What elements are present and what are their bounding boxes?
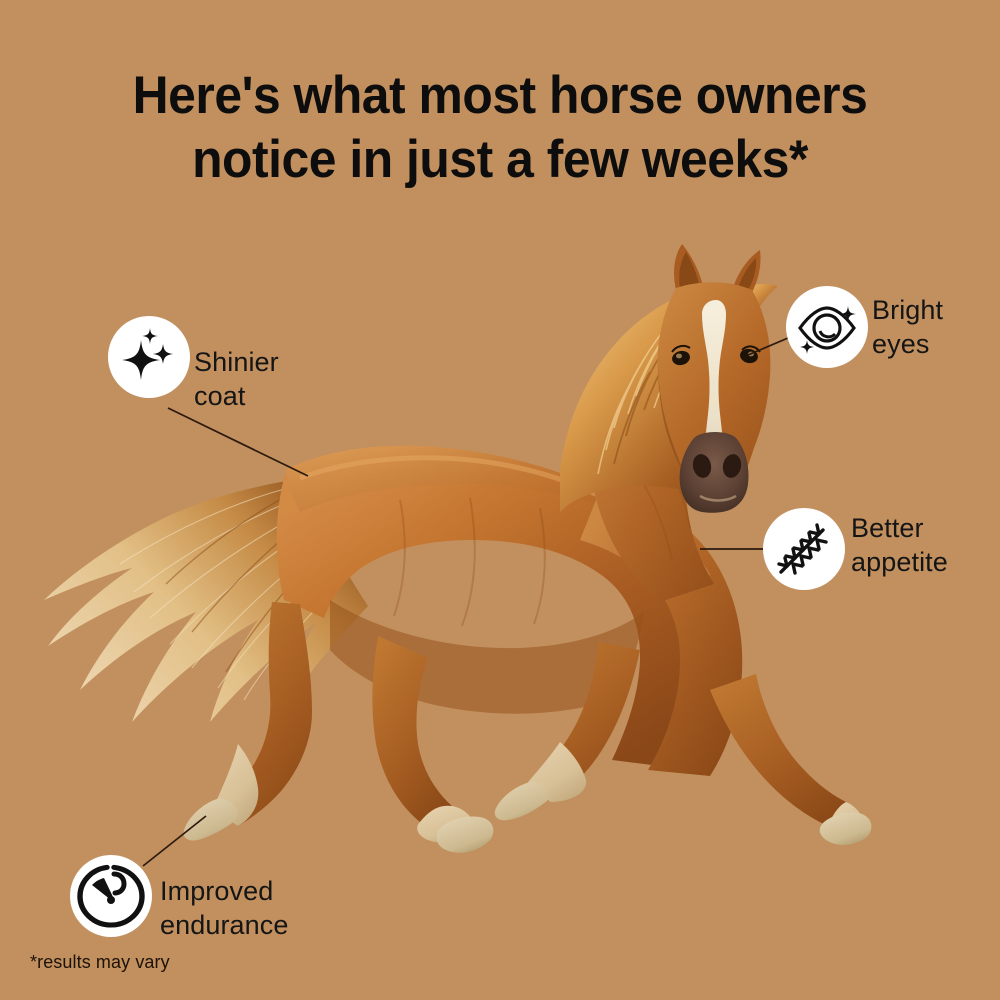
callout-label-shinier-coat: Shinier coat [194,345,279,413]
sparkle-icon [108,316,190,398]
stopwatch-icon [70,855,152,937]
footnote-disclaimer: *results may vary [30,952,170,973]
page-title: Here's what most horse owners notice in … [30,64,970,192]
callout-label-better-appetite: Better appetite [851,511,948,579]
eye-icon [786,286,868,368]
horse-legs [184,602,872,853]
promo-graphic: Here's what most horse owners notice in … [0,0,1000,1000]
callout-label-bright-eyes: Bright eyes [872,293,943,361]
wheat-icon [763,508,845,590]
callout-label-improved-endurance: Improved endurance [160,874,289,942]
